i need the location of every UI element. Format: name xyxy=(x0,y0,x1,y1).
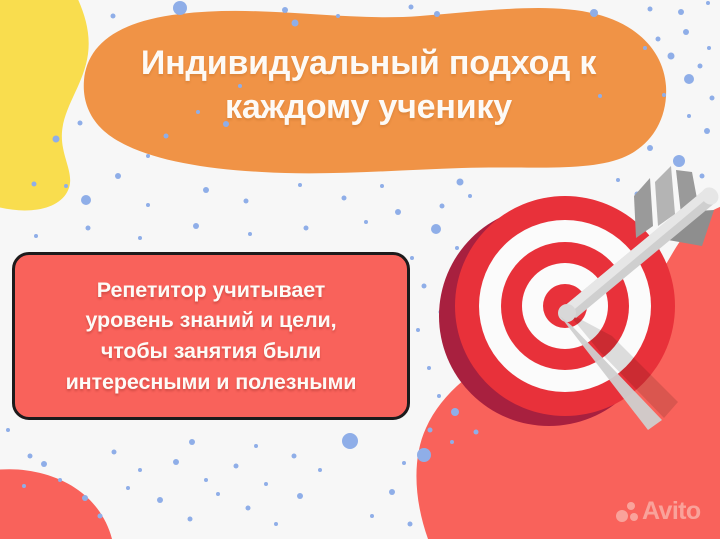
body-text-line-1: Репетитор учитывает xyxy=(15,275,407,306)
avito-watermark: Avito xyxy=(616,499,701,524)
avito-wordmark: Avito xyxy=(642,499,701,524)
body-text: Репетитор учитывает уровень знаний и цел… xyxy=(15,275,407,397)
body-card: Репетитор учитывает уровень знаний и цел… xyxy=(12,252,410,420)
page-title-line-1: Индивидуальный подход к xyxy=(96,42,641,86)
body-text-line-2: уровень знаний и цели, xyxy=(15,305,407,336)
arrow-fletching-fin-1 xyxy=(634,178,653,238)
page-title-line-2: каждому ученику xyxy=(96,86,641,130)
body-text-line-4: интересными и полезными xyxy=(15,367,407,398)
poster-canvas: Индивидуальный подход к каждому ученику … xyxy=(0,0,720,539)
page-title: Индивидуальный подход к каждому ученику xyxy=(96,42,641,129)
body-text-line-3: чтобы занятия были xyxy=(15,336,407,367)
avito-logo-icon xyxy=(616,500,640,524)
